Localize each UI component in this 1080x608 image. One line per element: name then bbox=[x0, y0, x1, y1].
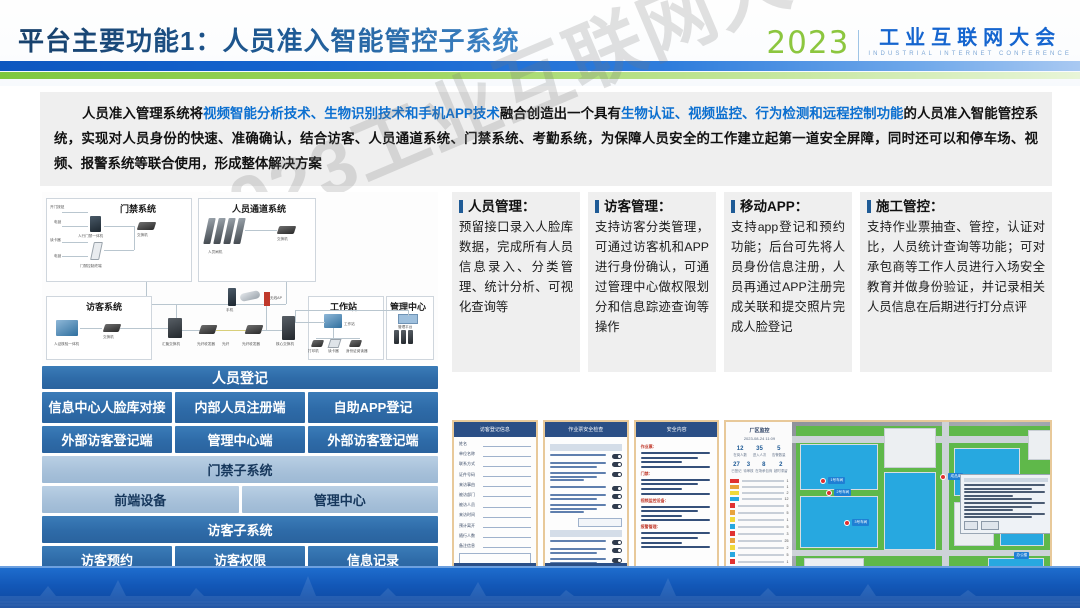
device-wireless-ap bbox=[239, 290, 260, 302]
tree-row: 前端设备管理中心 bbox=[42, 486, 438, 513]
feature-columns: 人员管理：预留接口录入人脸库数据，完成所有人员信息录入、分类管理、统计分析、可视… bbox=[452, 192, 1052, 372]
device-door-terminal bbox=[90, 216, 101, 232]
content-section-title: 报警管理： bbox=[641, 524, 713, 530]
tree-node-button[interactable]: 管理中心端 bbox=[175, 426, 305, 453]
legend-label bbox=[738, 512, 784, 514]
form-row[interactable]: 被访人员 bbox=[459, 502, 531, 508]
diagram-fiber-link bbox=[216, 330, 246, 331]
popup-title-bar bbox=[964, 478, 1048, 482]
legend-row: 3 bbox=[730, 531, 788, 536]
checklist-item[interactable] bbox=[550, 504, 622, 515]
form-input[interactable] bbox=[483, 482, 531, 487]
phone3-header: 安全内容 bbox=[636, 422, 718, 437]
content-line bbox=[641, 466, 710, 468]
system-hierarchy-tree: 人员登记信息中心人脸库对接内部人员注册端自助APP登记外部访客登记端管理中心端外… bbox=[42, 366, 438, 576]
device-fiber-converter bbox=[199, 325, 218, 334]
diagram-node-label: 门禁控制终端 bbox=[80, 264, 102, 269]
popup-line bbox=[964, 491, 1045, 493]
legend-row: 5 bbox=[730, 510, 788, 515]
legend-row: 2 bbox=[730, 545, 788, 550]
feature-column-title: 人员管理： bbox=[459, 198, 573, 215]
intro-paragraph: 人员准入管理系统将视频智能分析技术、生物识别技术和手机APP技术融合创造出一个具… bbox=[40, 92, 1052, 176]
legend-row: 25 bbox=[730, 538, 788, 543]
toggle-switch[interactable] bbox=[612, 548, 622, 553]
checklist-item[interactable] bbox=[550, 454, 622, 459]
diagram-node-label: 电锁 bbox=[54, 254, 61, 259]
text-line bbox=[550, 548, 606, 550]
diagram-link bbox=[245, 230, 277, 231]
diagram-node-label: 汇聚交换机 bbox=[162, 342, 180, 347]
diagram-node-label: 身份证阅读器 bbox=[346, 349, 368, 354]
legend-row: 2 bbox=[730, 491, 788, 495]
form-row[interactable]: 来访时间 bbox=[459, 512, 531, 518]
diagram-link bbox=[120, 328, 168, 329]
form-label: 联系方式 bbox=[459, 461, 483, 467]
diagram-link bbox=[62, 226, 88, 227]
feature-column-0: 人员管理：预留接口录入人脸库数据，完成所有人员信息录入、分类管理、统计分析、可视… bbox=[452, 192, 580, 372]
device-server bbox=[408, 330, 413, 344]
popup-line bbox=[964, 488, 1031, 490]
form-row[interactable]: 被访部门 bbox=[459, 492, 531, 498]
map-title: 厂区监控 bbox=[730, 427, 788, 434]
screenshot-worksheet-check[interactable]: 作业票安全检查 提交审核 bbox=[543, 420, 629, 578]
tree-node-button[interactable]: 人员登记 bbox=[42, 366, 438, 389]
legend-label bbox=[738, 540, 782, 542]
diagram-link bbox=[408, 310, 409, 316]
feature-column-title: 施工管控： bbox=[867, 198, 1045, 215]
text-line bbox=[550, 508, 597, 510]
legend-swatch bbox=[730, 485, 739, 489]
diagram-node-label: 人证核验一体机 bbox=[54, 342, 79, 347]
legend-swatch bbox=[730, 524, 735, 529]
toggle-switch[interactable] bbox=[612, 486, 622, 491]
diagram-node-label: 打印机 bbox=[308, 349, 319, 354]
toggle-switch[interactable] bbox=[612, 504, 622, 509]
diagram-node-label: 无线AP bbox=[270, 296, 282, 301]
map-detail-popup[interactable] bbox=[960, 474, 1050, 534]
legend-label bbox=[738, 505, 784, 507]
tree-node-button[interactable]: 管理中心 bbox=[242, 486, 439, 513]
device-mobile-phone bbox=[228, 288, 236, 306]
text-line bbox=[550, 504, 606, 506]
form-row[interactable]: 预计离开 bbox=[459, 523, 531, 529]
popup-line bbox=[964, 513, 1045, 515]
phone2-header: 作业票安全检查 bbox=[545, 422, 627, 437]
slide-header: 平台主要功能1：人员准入智能管控子系统 2023 中国·苏州 8月1日-10日 … bbox=[0, 0, 1080, 86]
device-switch bbox=[137, 222, 157, 230]
device-switch bbox=[277, 226, 297, 234]
diagram-node-label: 读卡器 bbox=[328, 349, 339, 354]
form-label: 姓名 bbox=[459, 441, 483, 447]
map-stat: 5告警数量 bbox=[772, 446, 786, 457]
diagram-link bbox=[262, 330, 282, 331]
text-line bbox=[550, 472, 606, 474]
section-action-button[interactable] bbox=[578, 518, 622, 527]
legend-label bbox=[738, 561, 784, 563]
map-stat: 12在岗人数 bbox=[733, 446, 747, 457]
map-legend: 112125515325251 bbox=[730, 479, 788, 564]
intro-panel: 人员准入管理系统将视频智能分析技术、生物识别技术和手机APP技术融合创造出一个具… bbox=[40, 92, 1052, 186]
tree-row: 信息中心人脸库对接内部人员注册端自助APP登记 bbox=[42, 392, 438, 423]
city-skyline-graphic bbox=[0, 566, 1080, 608]
legend-swatch bbox=[730, 559, 735, 564]
legend-count: 1 bbox=[786, 485, 788, 489]
form-label: 被访人员 bbox=[459, 502, 483, 508]
diagram-link bbox=[62, 242, 88, 243]
checklist-text bbox=[550, 462, 609, 469]
diagram-label-workstation: 工作站 bbox=[330, 300, 357, 313]
content-line bbox=[641, 546, 710, 548]
screenshot-factory-map[interactable]: 厂区监控 2023-08-24 11:09 12在岗人数35进入人次5告警数量 … bbox=[724, 420, 1052, 578]
diagram-link bbox=[104, 226, 134, 227]
content-line bbox=[641, 483, 698, 485]
slide-footer bbox=[0, 566, 1080, 608]
device-printer bbox=[311, 340, 324, 347]
text-line bbox=[550, 511, 584, 513]
diagram-link bbox=[134, 226, 135, 250]
diagram-link bbox=[295, 310, 409, 311]
map-stat-label: 进入人次 bbox=[753, 452, 767, 457]
screenshot-visitor-form[interactable]: 访客登记信息 姓名单位名称联系方式证件号码来访事由被访部门被访人员来访时间预计离… bbox=[452, 420, 538, 578]
form-row[interactable]: 备注信息 bbox=[459, 543, 531, 549]
legend-count: 3 bbox=[786, 532, 788, 536]
map-stats-row-2: 27已登记3待审核8在场承包商2超时滞留 bbox=[730, 462, 788, 473]
tree-node-button[interactable]: 信息中心人脸库对接 bbox=[42, 392, 172, 423]
text-line bbox=[550, 552, 597, 554]
checklist-text bbox=[550, 472, 609, 483]
legend-swatch bbox=[730, 538, 735, 543]
map-sidebar: 厂区监控 2023-08-24 11:09 12在岗人数35进入人次5告警数量 … bbox=[726, 422, 792, 576]
form-input[interactable] bbox=[483, 452, 531, 457]
device-verification-kiosk bbox=[56, 320, 78, 336]
text-line bbox=[550, 498, 597, 500]
checklist-section-header bbox=[550, 530, 622, 537]
legend-label bbox=[742, 498, 782, 500]
tree-row: 外部访客登记端管理中心端外部访客登记端 bbox=[42, 426, 438, 453]
legend-count: 1 bbox=[786, 518, 788, 522]
form-label: 随行人数 bbox=[459, 533, 483, 539]
logo-english-name: INDUSTRIAL INTERNET CONFERENCE bbox=[868, 51, 1072, 57]
legend-swatch bbox=[730, 491, 739, 495]
diagram-link bbox=[286, 282, 287, 304]
popup-line bbox=[964, 498, 1031, 500]
feature-column-body: 支持app登记和预约功能；后台可先将人员身份信息注册，人员再通过APP注册完成关… bbox=[731, 217, 845, 337]
form-row[interactable]: 姓名 bbox=[459, 441, 531, 447]
popup-line bbox=[964, 495, 1013, 497]
popup-line bbox=[964, 502, 1045, 504]
screenshot-strip: 访客登记信息 姓名单位名称联系方式证件号码来访事由被访部门被访人员来访时间预计离… bbox=[452, 420, 1052, 578]
popup-video-icon[interactable] bbox=[981, 521, 999, 530]
tree-node-button[interactable]: 内部人员注册端 bbox=[175, 392, 305, 423]
legend-count: 12 bbox=[784, 497, 788, 501]
diagram-label-access: 门禁系统 bbox=[120, 202, 156, 215]
popup-line bbox=[964, 516, 1031, 518]
diagram-node-label: 手机 bbox=[226, 308, 233, 313]
map-building[interactable] bbox=[884, 472, 936, 550]
legend-label bbox=[738, 554, 784, 556]
checklist-item[interactable] bbox=[550, 540, 622, 545]
form-label: 被访部门 bbox=[459, 492, 483, 498]
diagram-link bbox=[295, 310, 296, 322]
text-line bbox=[550, 479, 584, 481]
map-stat-label: 超时滞留 bbox=[774, 468, 788, 473]
logo-year: 2023 bbox=[766, 28, 849, 59]
device-core-switch bbox=[282, 316, 295, 340]
form-row[interactable]: 单位名称 bbox=[459, 451, 531, 457]
legend-label bbox=[742, 486, 784, 488]
device-fiber-converter bbox=[245, 325, 264, 334]
form-input[interactable] bbox=[483, 523, 531, 528]
checklist-item[interactable] bbox=[550, 486, 622, 491]
content-section-title: 作业票： bbox=[641, 444, 713, 450]
form-row[interactable]: 来访事由 bbox=[459, 482, 531, 488]
checklist-text bbox=[550, 494, 609, 501]
form-label: 单位名称 bbox=[459, 451, 483, 457]
form-input[interactable] bbox=[483, 503, 531, 508]
diagram-link bbox=[62, 212, 88, 213]
phone3-content-list: 作业票：门禁：视频监控设备：报警管理： bbox=[636, 437, 718, 555]
legend-row: 1 bbox=[730, 517, 788, 522]
checklist-section-header bbox=[550, 444, 622, 451]
legend-count: 5 bbox=[786, 525, 788, 529]
form-input[interactable] bbox=[483, 442, 531, 447]
feature-column-1: 访客管理：支持访客分类管理，可通过访客机和APP进行身份确认，可通过管理中心做权… bbox=[588, 192, 716, 372]
content-section-title: 视频监控设备： bbox=[641, 498, 713, 504]
tree-node-button[interactable]: 外部访客登记端 bbox=[308, 426, 438, 453]
intro-highlight: 生物认证、视频监控、行为检测和远程控制功能 bbox=[621, 106, 904, 121]
legend-count: 25 bbox=[784, 539, 788, 543]
map-stat: 2超时滞留 bbox=[774, 462, 788, 473]
diagram-group-access bbox=[46, 198, 192, 282]
tree-row: 人员登记 bbox=[42, 366, 438, 389]
legend-swatch bbox=[730, 497, 739, 501]
popup-line bbox=[964, 484, 1045, 486]
content-line bbox=[641, 510, 698, 512]
legend-swatch bbox=[730, 531, 735, 536]
screenshot-safety-content[interactable]: 安全内容 作业票：门禁：视频监控设备：报警管理： bbox=[634, 420, 720, 578]
legend-swatch bbox=[730, 552, 735, 557]
intro-highlight: 视频智能分析技术、生物识别技术和手机APP技术 bbox=[203, 106, 500, 121]
slide-root: 平台主要功能1：人员准入智能管控子系统 2023 中国·苏州 8月1日-10日 … bbox=[0, 0, 1080, 608]
diagram-node-label: 核心交换机 bbox=[276, 342, 294, 347]
legend-row: 5 bbox=[730, 524, 788, 529]
tree-node-button[interactable]: 自助APP登记 bbox=[308, 392, 438, 423]
legend-label bbox=[738, 547, 784, 549]
form-label: 备注信息 bbox=[459, 543, 483, 549]
diagram-node-label: 光纤收发器 bbox=[197, 342, 215, 347]
text-line bbox=[550, 540, 606, 542]
map-stat: 35进入人次 bbox=[753, 446, 767, 457]
text-line bbox=[550, 454, 606, 456]
map-building[interactable] bbox=[1028, 430, 1050, 460]
toggle-switch[interactable] bbox=[612, 472, 622, 477]
form-input[interactable] bbox=[483, 533, 531, 538]
map-tag[interactable]: 办公楼 bbox=[1014, 552, 1029, 559]
diagram-node-label: 开门按钮 bbox=[50, 205, 64, 210]
tree-row: 门禁子系统 bbox=[42, 456, 438, 483]
map-tag[interactable]: 3号车间 bbox=[852, 519, 869, 526]
tree-node-button[interactable]: 外部访客登记端 bbox=[42, 426, 172, 453]
legend-count: 1 bbox=[786, 479, 788, 483]
content-line bbox=[641, 488, 683, 490]
logo-chinese-name: 工业互联网大会 bbox=[868, 28, 1072, 49]
content-line bbox=[641, 537, 698, 539]
legend-count: 2 bbox=[786, 546, 788, 550]
diagram-node-label: 交换机 bbox=[277, 237, 288, 242]
map-tag[interactable]: 1号车间 bbox=[828, 477, 845, 484]
form-input[interactable] bbox=[483, 462, 531, 467]
device-workstation bbox=[324, 314, 342, 328]
toggle-switch[interactable] bbox=[612, 540, 622, 545]
legend-count: 5 bbox=[786, 511, 788, 515]
text-line bbox=[550, 486, 606, 488]
form-row[interactable]: 证件号码 bbox=[459, 472, 531, 478]
feature-column-2: 移动APP：支持app登记和预约功能；后台可先将人员身份信息注册，人员再通过AP… bbox=[724, 192, 852, 372]
tree-node-button[interactable]: 访客子系统 bbox=[42, 516, 438, 543]
map-stat-label: 已登记 bbox=[731, 468, 741, 473]
header-green-rule bbox=[0, 72, 1080, 79]
feature-column-body: 预留接口录入人脸库数据，完成所有人员信息录入、分类管理、统计分析、可视化查询等 bbox=[459, 217, 573, 317]
map-stat: 27已登记 bbox=[731, 462, 741, 473]
form-label: 来访时间 bbox=[459, 512, 483, 518]
legend-swatch bbox=[730, 517, 735, 522]
form-input[interactable] bbox=[483, 543, 531, 548]
legend-row: 5 bbox=[730, 503, 788, 508]
form-row[interactable]: 联系方式 bbox=[459, 461, 531, 467]
device-aggregation-switch bbox=[168, 318, 182, 338]
content-line bbox=[641, 479, 710, 481]
diagram-node-label: 光纤收发器 bbox=[242, 342, 260, 347]
device-id-reader bbox=[349, 340, 362, 347]
map-road bbox=[792, 550, 1050, 556]
toggle-switch[interactable] bbox=[612, 454, 622, 459]
phone1-form-fields[interactable]: 姓名单位名称联系方式证件号码来访事由被访部门被访人员来访时间预计离开随行人数备注… bbox=[454, 437, 536, 575]
diagram-link bbox=[182, 330, 200, 331]
diagram-node-label: 交换机 bbox=[137, 233, 148, 238]
checklist-text bbox=[550, 548, 609, 555]
checklist-text bbox=[550, 504, 609, 515]
popup-line bbox=[964, 506, 1031, 508]
form-input[interactable] bbox=[483, 492, 531, 497]
content-section-title: 门禁： bbox=[641, 471, 713, 477]
legend-row: 1 bbox=[730, 485, 788, 489]
form-input[interactable] bbox=[483, 472, 531, 477]
text-line bbox=[550, 494, 606, 496]
form-label: 来访事由 bbox=[459, 482, 483, 488]
content-line bbox=[641, 461, 683, 463]
legend-row: 1 bbox=[730, 479, 788, 483]
content-line bbox=[641, 519, 710, 521]
content-line bbox=[641, 506, 710, 508]
diagram-link bbox=[333, 328, 334, 338]
legend-count: 1 bbox=[786, 560, 788, 564]
feature-column-body: 支持访客分类管理，可通过访客机和APP进行身份确认，可通过管理中心做权限划分和信… bbox=[595, 217, 709, 337]
map-canvas[interactable]: 1号车间 2号车间 3号车间 成品库 原料区 办公楼 bbox=[792, 422, 1050, 576]
legend-swatch bbox=[730, 510, 735, 515]
map-stat-label: 告警数量 bbox=[772, 452, 786, 457]
checklist-item[interactable] bbox=[550, 494, 622, 501]
feature-column-body: 支持作业票抽查、管控，认证对比，人员统计查询等功能；可对承包商等工作人员进行入场… bbox=[867, 217, 1045, 317]
feature-column-3: 施工管控：支持作业票抽查、管控，认证对比，人员统计查询等功能；可对承包商等工作人… bbox=[860, 192, 1052, 372]
legend-label bbox=[742, 480, 784, 482]
legend-label bbox=[738, 526, 784, 528]
legend-swatch bbox=[730, 545, 735, 550]
diagram-label-channel: 人员通道系统 bbox=[232, 202, 286, 215]
text-line bbox=[550, 466, 597, 468]
legend-label bbox=[738, 519, 784, 521]
diagram-link bbox=[266, 306, 267, 330]
checklist-text bbox=[550, 454, 609, 458]
tree-node-button[interactable]: 前端设备 bbox=[42, 486, 239, 513]
legend-swatch bbox=[730, 479, 739, 483]
form-input[interactable] bbox=[483, 513, 531, 518]
map-timestamp: 2023-08-24 11:09 bbox=[730, 436, 788, 441]
map-stat: 3待审核 bbox=[743, 462, 753, 473]
map-stat: 8在场承包商 bbox=[755, 462, 772, 473]
form-label: 证件号码 bbox=[459, 472, 483, 478]
toggle-switch[interactable] bbox=[612, 494, 622, 499]
content-line bbox=[641, 493, 710, 495]
header-blue-rule bbox=[0, 61, 1080, 71]
content-line bbox=[641, 515, 683, 517]
map-tag[interactable]: 2号车间 bbox=[834, 489, 851, 496]
page-title: 平台主要功能1：人员准入智能管控子系统 bbox=[18, 21, 519, 58]
legend-row: 5 bbox=[730, 552, 788, 557]
diagram-label-visitor: 访客系统 bbox=[86, 300, 122, 313]
map-stat-label: 在岗人数 bbox=[733, 452, 747, 457]
network-topology-diagram: 门禁系统 开门按钮 电锁 人行门禁一体机 读卡器 电锁 门禁控制终端 交换机 人… bbox=[42, 192, 438, 364]
diagram-node-label: 人行门禁一体机 bbox=[78, 234, 103, 239]
diagram-link bbox=[62, 256, 88, 257]
map-stats-row-1: 12在岗人数35进入人次5告警数量 bbox=[730, 446, 788, 457]
tree-row: 访客子系统 bbox=[42, 516, 438, 543]
intro-text: 人员准入管理系统将 bbox=[82, 106, 203, 121]
device-server bbox=[401, 330, 406, 344]
content-line bbox=[641, 542, 683, 544]
legend-count: 5 bbox=[786, 553, 788, 557]
form-row[interactable]: 随行人数 bbox=[459, 533, 531, 539]
diagram-node-label: 电锁 bbox=[54, 220, 61, 225]
phone2-checklist[interactable] bbox=[545, 437, 627, 578]
diagram-node-label: 人员闸机 bbox=[208, 250, 222, 255]
legend-count: 5 bbox=[786, 504, 788, 508]
legend-count: 2 bbox=[786, 491, 788, 495]
map-stat-label: 在场承包商 bbox=[755, 468, 772, 473]
map-building[interactable] bbox=[884, 428, 936, 468]
content-line bbox=[641, 457, 698, 459]
checklist-item[interactable] bbox=[550, 472, 622, 483]
legend-row: 1 bbox=[730, 559, 788, 564]
diagram-node-label: 光纤 bbox=[222, 342, 229, 347]
legend-swatch bbox=[730, 503, 735, 508]
popup-call-icon[interactable] bbox=[964, 521, 978, 530]
checklist-item[interactable] bbox=[550, 462, 622, 469]
phone1-header: 访客登记信息 bbox=[454, 422, 536, 437]
legend-row: 12 bbox=[730, 497, 788, 501]
diagram-node-label: 工作站 bbox=[344, 322, 355, 327]
intro-text: 融合创造出一个具有 bbox=[500, 106, 621, 121]
checklist-item[interactable] bbox=[550, 548, 622, 555]
tree-node-button[interactable]: 门禁子系统 bbox=[42, 456, 438, 483]
diagram-node-label: 读卡器 bbox=[50, 238, 61, 243]
checklist-text bbox=[550, 540, 609, 544]
popup-line bbox=[964, 509, 1013, 511]
diagram-link bbox=[104, 250, 134, 251]
content-line bbox=[641, 532, 710, 534]
toggle-switch[interactable] bbox=[612, 462, 622, 467]
diagram-node-label: 交换机 bbox=[103, 335, 114, 340]
device-switch bbox=[103, 324, 122, 332]
